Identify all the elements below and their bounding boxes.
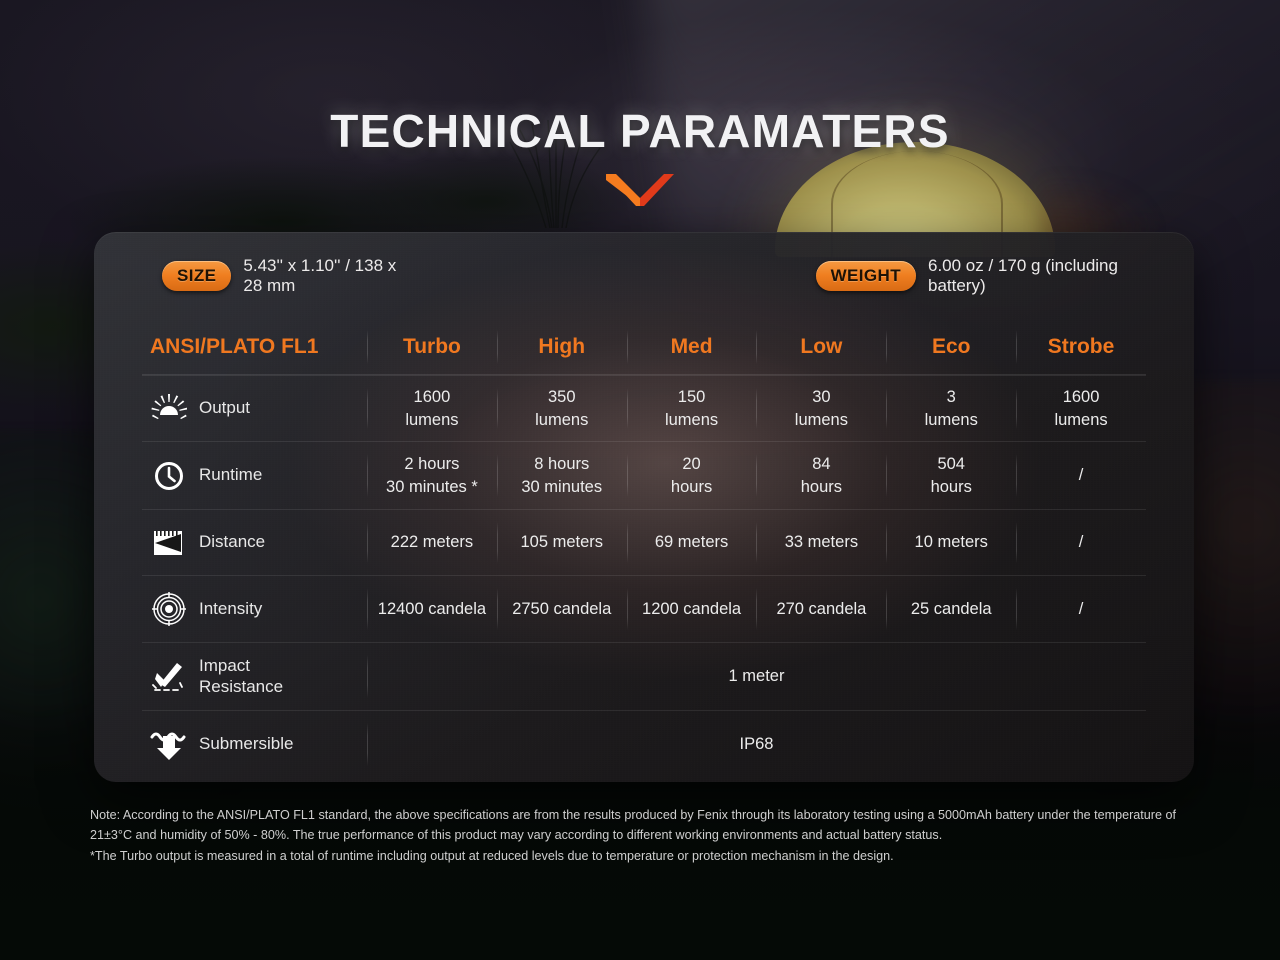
table-row: Output 1600lumens 350lumens 150lumens 30… bbox=[142, 375, 1146, 441]
cell-intensity-turbo: 12400 candela bbox=[367, 576, 497, 642]
table-row: Runtime 2 hours30 minutes * 8 hours30 mi… bbox=[142, 441, 1146, 509]
row-label-text: Runtime bbox=[199, 465, 262, 485]
cell-intensity-med: 1200 candela bbox=[627, 576, 757, 642]
cell-impact-resistance-value: 1 meter bbox=[367, 643, 1146, 710]
target-intensity-icon bbox=[150, 592, 188, 626]
cell-output-high: 350lumens bbox=[497, 376, 627, 441]
column-header-turbo: Turbo bbox=[367, 320, 497, 374]
spec-panel: SIZE 5.43'' x 1.10'' / 138 x 28 mm WEIGH… bbox=[94, 232, 1194, 782]
header-block: TECHNICAL PARAMATERS bbox=[0, 104, 1280, 206]
clock-icon bbox=[150, 459, 188, 493]
cell-distance-med: 69 meters bbox=[627, 510, 757, 575]
cell-output-turbo: 1600lumens bbox=[367, 376, 497, 441]
cell-distance-low: 33 meters bbox=[756, 510, 886, 575]
cell-distance-strobe: / bbox=[1016, 510, 1146, 575]
cell-runtime-turbo: 2 hours30 minutes * bbox=[367, 442, 497, 509]
row-label-output: Output bbox=[142, 376, 367, 441]
cell-distance-eco: 10 meters bbox=[886, 510, 1016, 575]
impact-icon bbox=[150, 660, 188, 694]
weight-pill: WEIGHT bbox=[816, 261, 916, 291]
cell-runtime-strobe: / bbox=[1016, 442, 1146, 509]
cell-submersible-value: IP68 bbox=[367, 711, 1146, 778]
submersible-icon bbox=[150, 728, 188, 762]
cell-output-low: 30lumens bbox=[756, 376, 886, 441]
cell-intensity-strobe: / bbox=[1016, 576, 1146, 642]
table-row: Distance 222 meters 105 meters 69 meters… bbox=[142, 509, 1146, 575]
cell-intensity-high: 2750 candela bbox=[497, 576, 627, 642]
cell-runtime-med: 20hours bbox=[627, 442, 757, 509]
table-row: Submersible IP68 bbox=[142, 710, 1146, 778]
row-label-distance: Distance bbox=[142, 510, 367, 575]
row-label-runtime: Runtime bbox=[142, 442, 367, 509]
footnote-turbo: *The Turbo output is measured in a total… bbox=[90, 847, 1220, 867]
column-header-high: High bbox=[497, 320, 627, 374]
summary-item-weight: WEIGHT 6.00 oz / 170 g (including batter… bbox=[816, 256, 1126, 296]
table-row: Intensity 12400 candela 2750 candela 120… bbox=[142, 575, 1146, 642]
cell-runtime-low: 84hours bbox=[756, 442, 886, 509]
cell-distance-turbo: 222 meters bbox=[367, 510, 497, 575]
column-header-strobe: Strobe bbox=[1016, 320, 1146, 374]
column-header-standard: ANSI/PLATO FL1 bbox=[142, 320, 367, 374]
cell-intensity-eco: 25 candela bbox=[886, 576, 1016, 642]
row-label-text: Submersible bbox=[199, 734, 294, 754]
spec-table: ANSI/PLATO FL1 Turbo High Med Low Eco St… bbox=[94, 320, 1194, 778]
cell-output-eco: 3lumens bbox=[886, 376, 1016, 441]
summary-row: SIZE 5.43'' x 1.10'' / 138 x 28 mm WEIGH… bbox=[94, 232, 1194, 320]
column-header-med: Med bbox=[627, 320, 757, 374]
row-label-impact-resistance: ImpactResistance bbox=[142, 643, 367, 710]
row-label-text: Intensity bbox=[199, 599, 262, 619]
page-title: TECHNICAL PARAMATERS bbox=[0, 104, 1280, 158]
footnote-standard: Note: According to the ANSI/PLATO FL1 st… bbox=[90, 806, 1220, 845]
cell-runtime-eco: 504hours bbox=[886, 442, 1016, 509]
table-header-row: ANSI/PLATO FL1 Turbo High Med Low Eco St… bbox=[142, 320, 1146, 375]
cell-output-strobe: 1600lumens bbox=[1016, 376, 1146, 441]
table-row: ImpactResistance 1 meter bbox=[142, 642, 1146, 710]
size-pill: SIZE bbox=[162, 261, 231, 291]
size-value: 5.43'' x 1.10'' / 138 x 28 mm bbox=[243, 256, 409, 296]
cell-output-med: 150lumens bbox=[627, 376, 757, 441]
row-label-submersible: Submersible bbox=[142, 711, 367, 778]
row-label-text: Output bbox=[199, 398, 250, 418]
beam-distance-icon bbox=[150, 526, 188, 560]
row-label-text: Distance bbox=[199, 532, 265, 552]
row-label-intensity: Intensity bbox=[142, 576, 367, 642]
cell-runtime-high: 8 hours30 minutes bbox=[497, 442, 627, 509]
cell-intensity-low: 270 candela bbox=[756, 576, 886, 642]
chevron-down-icon bbox=[606, 172, 674, 206]
sunburst-icon bbox=[150, 392, 188, 426]
row-label-text: ImpactResistance bbox=[199, 656, 283, 696]
cell-distance-high: 105 meters bbox=[497, 510, 627, 575]
column-header-eco: Eco bbox=[886, 320, 1016, 374]
footnotes: Note: According to the ANSI/PLATO FL1 st… bbox=[90, 806, 1220, 867]
column-header-low: Low bbox=[756, 320, 886, 374]
weight-value: 6.00 oz / 170 g (including battery) bbox=[928, 256, 1126, 296]
summary-item-size: SIZE 5.43'' x 1.10'' / 138 x 28 mm bbox=[162, 256, 410, 296]
